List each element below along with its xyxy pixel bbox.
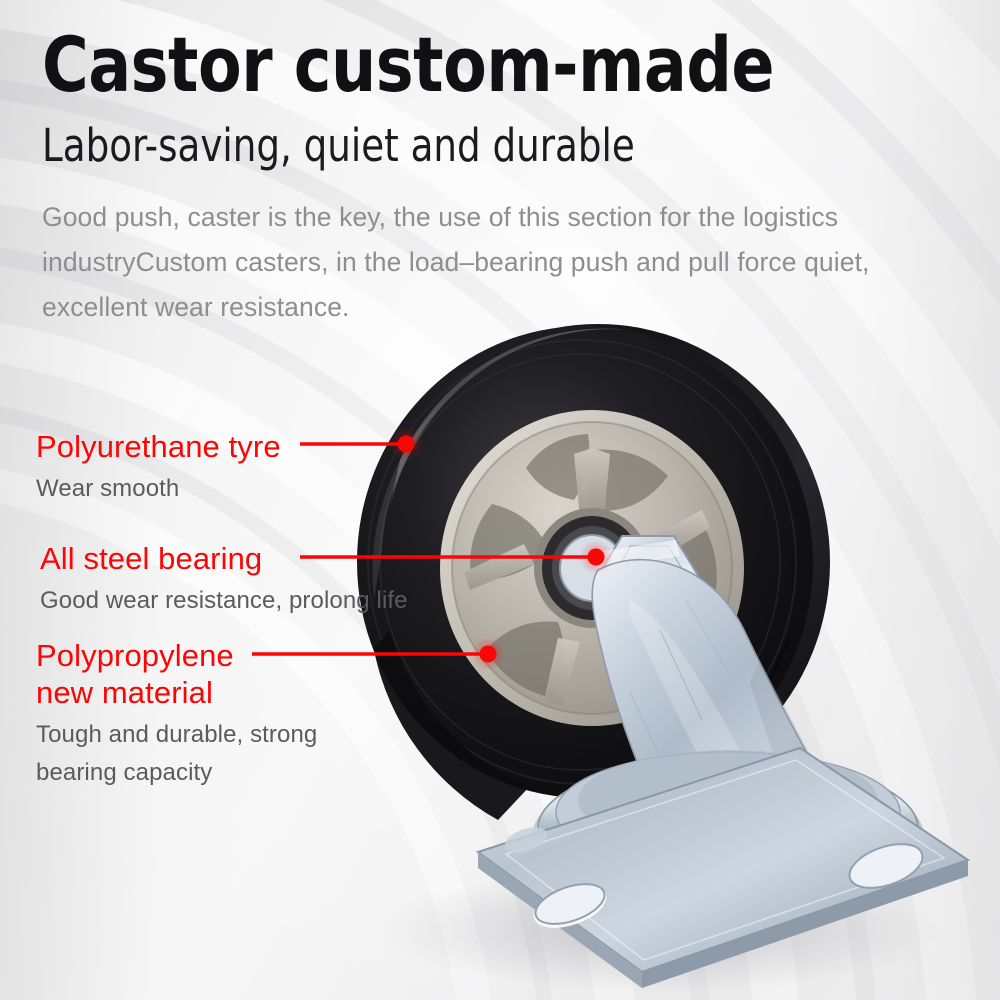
callout-title-all-steel-bearing: All steel bearing (40, 540, 408, 577)
callout-polyurethane-tyre: Polyurethane tyre Wear smooth (36, 428, 281, 508)
callout-subtitle-polypropylene-new-material: Tough and durable, strong bearing capaci… (36, 716, 386, 792)
callout-all-steel-bearing: All steel bearing Good wear resistance, … (40, 540, 408, 620)
callout-polypropylene-new-material: Polypropylene new material Tough and dur… (36, 637, 386, 792)
callout-title-polypropylene-new-material: Polypropylene new material (36, 637, 286, 711)
callout-list: Polyurethane tyre Wear smooth All steel … (0, 0, 1000, 1000)
callout-subtitle-all-steel-bearing: Good wear resistance, prolong life (40, 582, 408, 620)
callout-subtitle-polyurethane-tyre: Wear smooth (36, 470, 281, 508)
callout-title-polyurethane-tyre: Polyurethane tyre (36, 428, 281, 465)
product-infographic: Castor custom-made Labor-saving, quiet a… (0, 0, 1000, 1000)
